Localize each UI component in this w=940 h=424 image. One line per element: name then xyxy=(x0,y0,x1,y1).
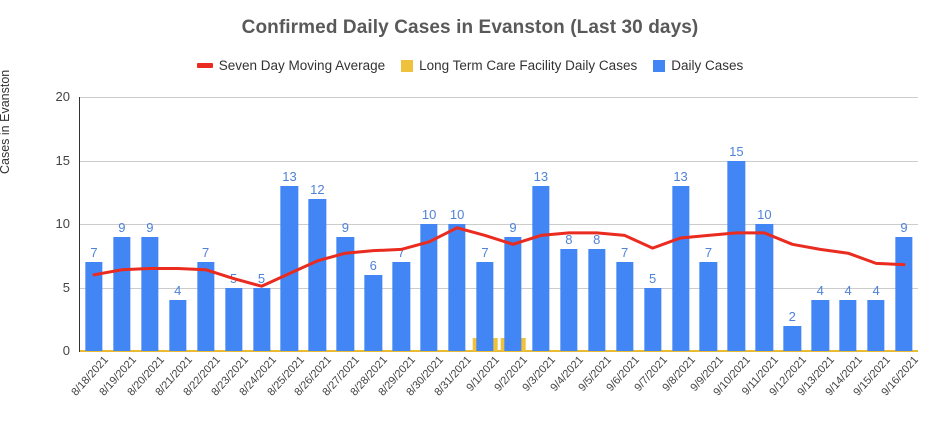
x-axis-tick-label: 9/16/2021 xyxy=(865,354,921,414)
bar-value-label: 15 xyxy=(729,144,743,159)
daily-cases-bar[interactable] xyxy=(448,224,465,351)
bar-slot: 2 xyxy=(778,97,806,351)
bar-slot: 4 xyxy=(834,97,862,351)
bar-slot: 9 xyxy=(331,97,359,351)
daily-cases-bar[interactable] xyxy=(393,262,410,351)
daily-cases-bar[interactable] xyxy=(895,237,912,351)
bar-value-label: 9 xyxy=(509,220,516,235)
legend-item[interactable]: Long Term Care Facility Daily Cases xyxy=(401,58,637,73)
bar-value-label: 4 xyxy=(872,283,879,298)
bar-value-label: 8 xyxy=(565,232,572,247)
daily-cases-bar[interactable] xyxy=(756,224,773,351)
bar-slot: 4 xyxy=(806,97,834,351)
bar-slot: 17 xyxy=(471,97,499,351)
y-axis-tick-label: 10 xyxy=(0,216,70,231)
daily-cases-bar[interactable] xyxy=(504,237,521,351)
bar-slot: 13 xyxy=(276,97,304,351)
bar-value-label: 4 xyxy=(174,283,181,298)
legend-box-swatch-icon xyxy=(401,60,413,72)
legend-line-swatch-icon xyxy=(197,63,213,68)
bar-slot: 5 xyxy=(248,97,276,351)
daily-cases-bar[interactable] xyxy=(225,288,242,352)
bar-slot: 10 xyxy=(750,97,778,351)
legend-label: Long Term Care Facility Daily Cases xyxy=(419,58,637,73)
bar-slot: 4 xyxy=(164,97,192,351)
bar-slot: 10 xyxy=(443,97,471,351)
daily-cases-bar[interactable] xyxy=(616,262,633,351)
bar-value-label: 8 xyxy=(593,232,600,247)
bar-slot: 4 xyxy=(862,97,890,351)
bar-slot: 10 xyxy=(415,97,443,351)
bar-value-label: 4 xyxy=(817,283,824,298)
bar-value-label: 7 xyxy=(202,245,209,260)
daily-cases-bar[interactable] xyxy=(532,186,549,351)
daily-cases-bar[interactable] xyxy=(281,186,298,351)
daily-cases-bar[interactable] xyxy=(700,262,717,351)
daily-cases-bar[interactable] xyxy=(169,300,186,351)
bar-slot: 6 xyxy=(359,97,387,351)
bar-value-label: 5 xyxy=(649,271,656,286)
daily-cases-bar[interactable] xyxy=(420,224,437,351)
bar-slot: 5 xyxy=(639,97,667,351)
bar-group: 7994755131296710101719138875137151024449 xyxy=(80,97,918,351)
daily-cases-bar[interactable] xyxy=(365,275,382,351)
bar-value-label: 7 xyxy=(481,245,488,260)
daily-cases-bar[interactable] xyxy=(476,262,493,351)
bar-slot: 9 xyxy=(136,97,164,351)
bar-value-label: 10 xyxy=(757,207,771,222)
bar-value-label: 12 xyxy=(310,182,324,197)
daily-cases-bar[interactable] xyxy=(812,300,829,351)
daily-cases-bar[interactable] xyxy=(253,288,270,352)
bar-value-label: 7 xyxy=(398,245,405,260)
legend-label: Daily Cases xyxy=(671,58,743,73)
chart-title: Confirmed Daily Cases in Evanston (Last … xyxy=(0,17,940,39)
bar-value-label: 7 xyxy=(621,245,628,260)
bar-value-label: 2 xyxy=(789,309,796,324)
bar-value-label: 9 xyxy=(146,220,153,235)
bar-value-label: 7 xyxy=(90,245,97,260)
daily-cases-bar[interactable] xyxy=(784,326,801,351)
bar-slot: 7 xyxy=(80,97,108,351)
legend-box-swatch-icon xyxy=(653,60,665,72)
y-axis-tick-label: 5 xyxy=(0,280,70,295)
daily-cases-bar[interactable] xyxy=(113,237,130,351)
bar-value-label: 13 xyxy=(534,169,548,184)
daily-cases-bar[interactable] xyxy=(85,262,102,351)
bar-value-label: 9 xyxy=(342,220,349,235)
daily-cases-bar[interactable] xyxy=(197,262,214,351)
bar-slot: 8 xyxy=(555,97,583,351)
bar-slot: 12 xyxy=(303,97,331,351)
daily-cases-bar[interactable] xyxy=(588,249,605,351)
bar-value-label: 10 xyxy=(422,207,436,222)
x-axis-labels: 8/18/20218/19/20218/20/20218/21/20218/22… xyxy=(80,354,918,424)
bar-value-label: 5 xyxy=(258,271,265,286)
legend-item[interactable]: Daily Cases xyxy=(653,58,743,73)
bar-slot: 13 xyxy=(667,97,695,351)
chart-container: Confirmed Daily Cases in Evanston (Last … xyxy=(0,0,940,424)
bar-slot: 9 xyxy=(108,97,136,351)
daily-cases-bar[interactable] xyxy=(141,237,158,351)
bar-value-label: 13 xyxy=(673,169,687,184)
daily-cases-bar[interactable] xyxy=(560,249,577,351)
bar-value-label: 13 xyxy=(282,169,296,184)
y-axis-tick-label: 20 xyxy=(0,89,70,104)
bar-slot: 9 xyxy=(890,97,918,351)
bar-value-label: 9 xyxy=(900,220,907,235)
bar-slot: 8 xyxy=(583,97,611,351)
legend-label: Seven Day Moving Average xyxy=(219,58,385,73)
y-axis-tick-label: 15 xyxy=(0,153,70,168)
bar-value-label: 10 xyxy=(450,207,464,222)
daily-cases-bar[interactable] xyxy=(309,199,326,351)
daily-cases-bar[interactable] xyxy=(337,237,354,351)
y-axis-tick-label: 0 xyxy=(0,343,70,358)
legend-item[interactable]: Seven Day Moving Average xyxy=(197,58,385,73)
bar-slot: 7 xyxy=(387,97,415,351)
bar-slot: 7 xyxy=(192,97,220,351)
bar-value-label: 9 xyxy=(118,220,125,235)
bar-slot: 13 xyxy=(527,97,555,351)
daily-cases-bar[interactable] xyxy=(867,300,884,351)
bar-slot: 5 xyxy=(220,97,248,351)
bar-value-label: 5 xyxy=(230,271,237,286)
bar-value-label: 7 xyxy=(705,245,712,260)
bar-value-label: 4 xyxy=(845,283,852,298)
bar-slot: 7 xyxy=(611,97,639,351)
bar-slot: 15 xyxy=(722,97,750,351)
bar-slot: 7 xyxy=(695,97,723,351)
bar-slot: 19 xyxy=(499,97,527,351)
chart-legend: Seven Day Moving AverageLong Term Care F… xyxy=(0,58,940,73)
plot-area: 05101520 7994755131296710101719138875137… xyxy=(80,97,918,351)
bar-value-label: 6 xyxy=(370,258,377,273)
daily-cases-bar[interactable] xyxy=(839,300,856,351)
daily-cases-bar[interactable] xyxy=(644,288,661,352)
daily-cases-bar[interactable] xyxy=(672,186,689,351)
daily-cases-bar[interactable] xyxy=(728,161,745,352)
